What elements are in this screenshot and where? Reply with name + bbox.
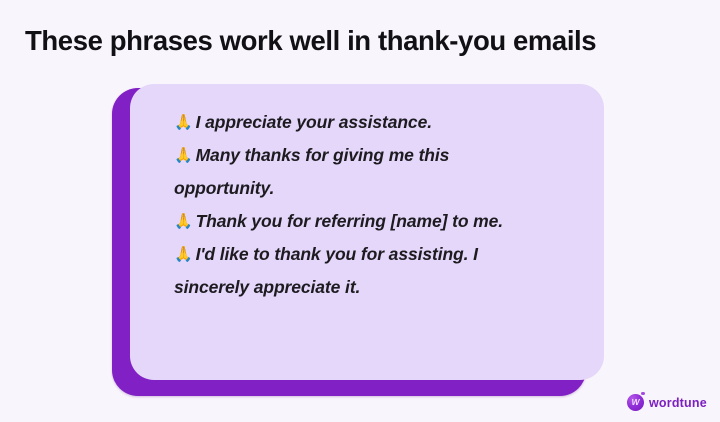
list-item-continuation: opportunity. [174, 172, 574, 205]
folded-hands-icon: 🙏 [174, 213, 193, 230]
list-item: 🙏Many thanks for giving me this [174, 139, 574, 172]
folded-hands-icon: 🙏 [174, 246, 193, 263]
folded-hands-icon: 🙏 [174, 114, 193, 131]
list-item: 🙏I'd like to thank you for assisting. I [174, 238, 574, 271]
phrase-card: 🙏I appreciate your assistance. 🙏Many tha… [112, 84, 592, 396]
list-item: 🙏I appreciate your assistance. [174, 106, 574, 139]
page-title: These phrases work well in thank-you ema… [25, 24, 695, 58]
list-item-label: sincerely appreciate it. [174, 277, 360, 297]
folded-hands-icon: 🙏 [174, 147, 193, 164]
list-item: 🙏Thank you for referring [name] to me. [174, 205, 574, 238]
list-item-label: I'd like to thank you for assisting. I [196, 244, 478, 264]
wordtune-wordmark: wordtune [649, 396, 707, 410]
list-item-label: Thank you for referring [name] to me. [196, 211, 503, 231]
slide-canvas: These phrases work well in thank-you ema… [0, 0, 720, 422]
list-item-continuation: sincerely appreciate it. [174, 271, 574, 304]
card-face: 🙏I appreciate your assistance. 🙏Many tha… [130, 84, 604, 380]
list-item-label: I appreciate your assistance. [196, 112, 432, 132]
list-item-label: Many thanks for giving me this [196, 145, 450, 165]
sparkle-dot-icon [641, 392, 645, 396]
phrase-list: 🙏I appreciate your assistance. 🙏Many tha… [174, 106, 574, 304]
list-item-label: opportunity. [174, 178, 274, 198]
wordtune-mark-icon: W [627, 394, 644, 411]
wordtune-logo: W wordtune [627, 394, 707, 411]
wordtune-mark-glyph: W [631, 398, 639, 407]
